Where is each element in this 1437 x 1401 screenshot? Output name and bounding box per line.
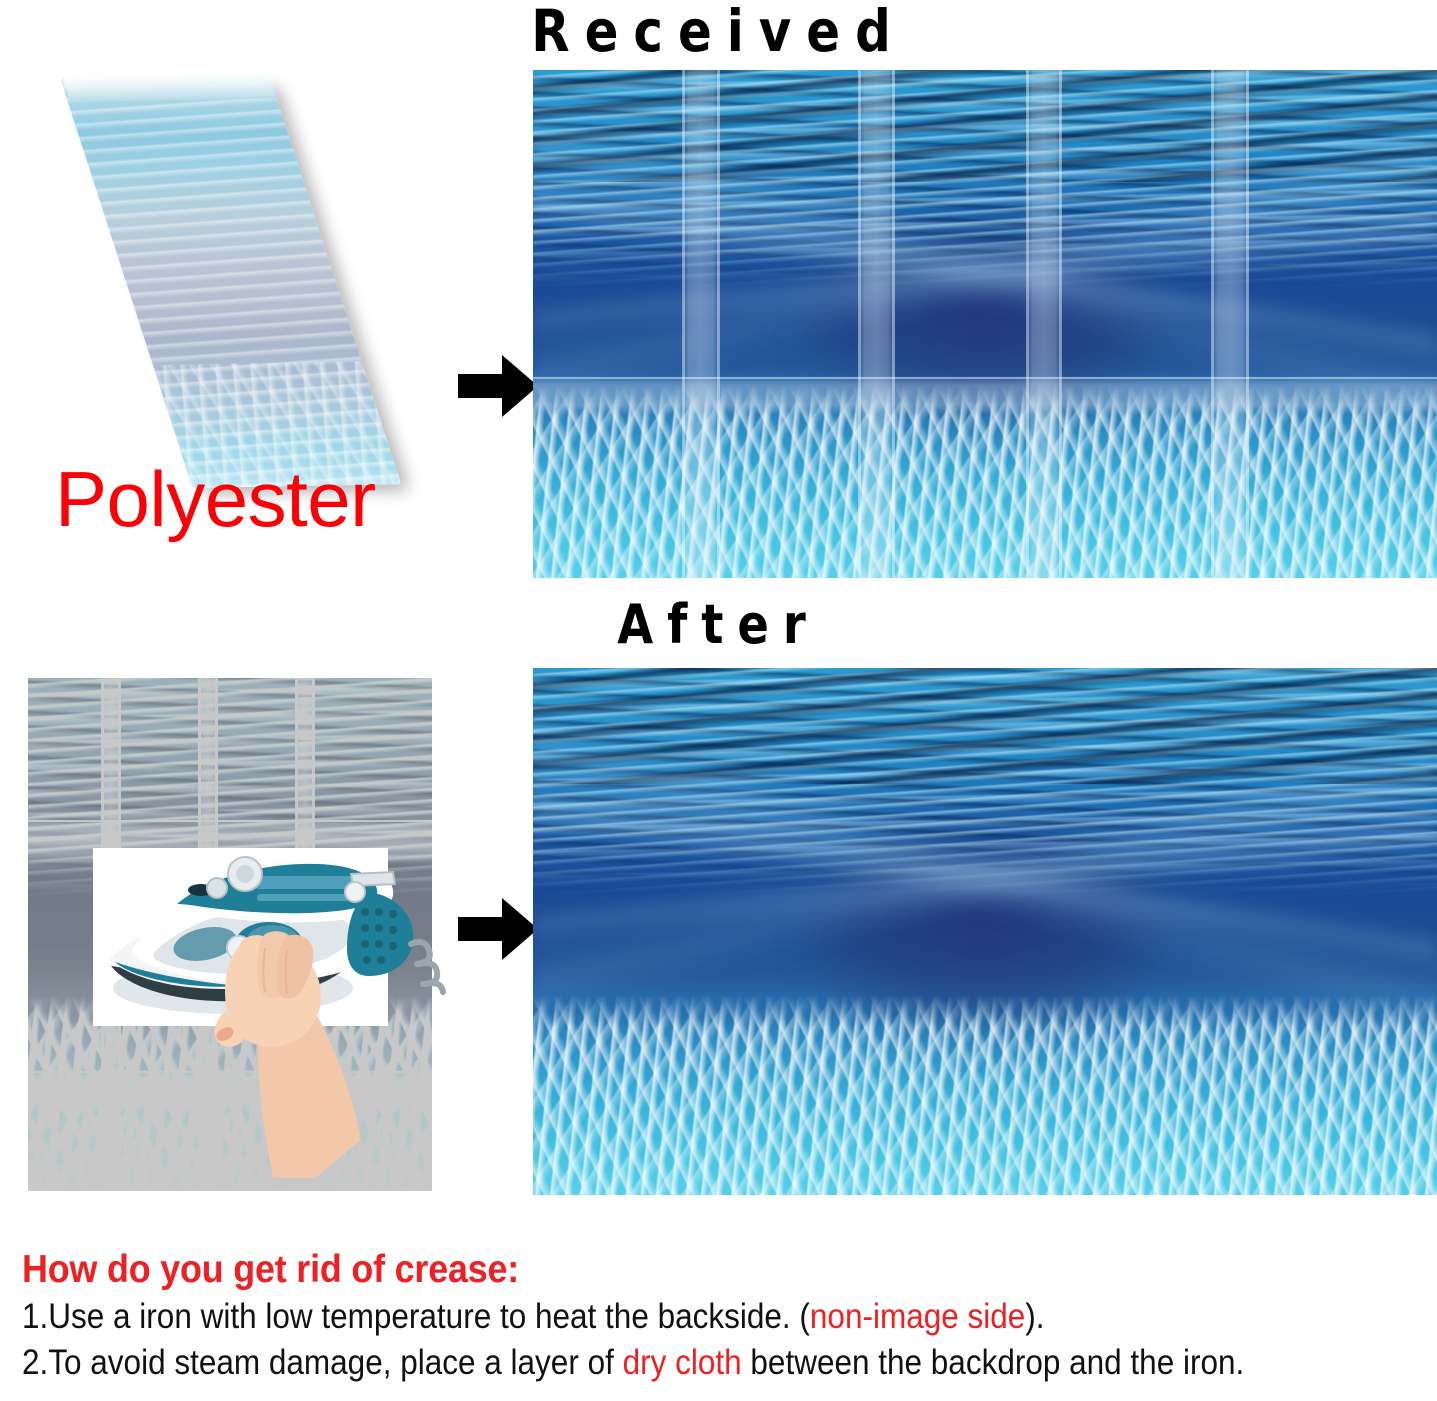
after-backdrop-image [533,668,1437,1195]
arrow-right-icon [458,355,538,417]
fabric-roll-illustration [0,70,420,500]
instructions-block: How do you get rid of crease: 1.Use a ir… [22,1248,1433,1385]
instruction-step-1-highlight: non-image side [810,1297,1025,1336]
instruction-step-2-highlight: dry cloth [623,1343,742,1382]
polyester-fabric-sheet [60,74,401,488]
sea-floor-layer [533,385,1437,578]
instructions-heading: How do you get rid of crease: [22,1248,1320,1292]
sea-floor-layer [533,995,1437,1195]
iron-photo-card [93,848,388,1026]
material-label-polyester: Polyester [55,460,376,538]
instruction-step-1-text-after: ). [1025,1297,1044,1336]
instruction-step-1-text-before: 1.Use a iron with low temperature to hea… [22,1297,810,1336]
instruction-step-2-text-after: between the backdrop and the iron. [742,1343,1245,1382]
arrow-right-icon [458,898,538,960]
fabric-roll-top-edge [62,72,277,102]
page-title-after: After [101,598,1337,652]
instruction-step-2: 2.To avoid steam damage, place a layer o… [22,1342,1292,1385]
steam-iron-icon [93,848,453,1178]
page-title-received: Received [101,2,1337,60]
instruction-step-1: 1.Use a iron with low temperature to hea… [22,1296,1292,1339]
received-backdrop-image [533,70,1437,578]
instruction-step-2-text-before: 2.To avoid steam damage, place a layer o… [22,1343,623,1382]
